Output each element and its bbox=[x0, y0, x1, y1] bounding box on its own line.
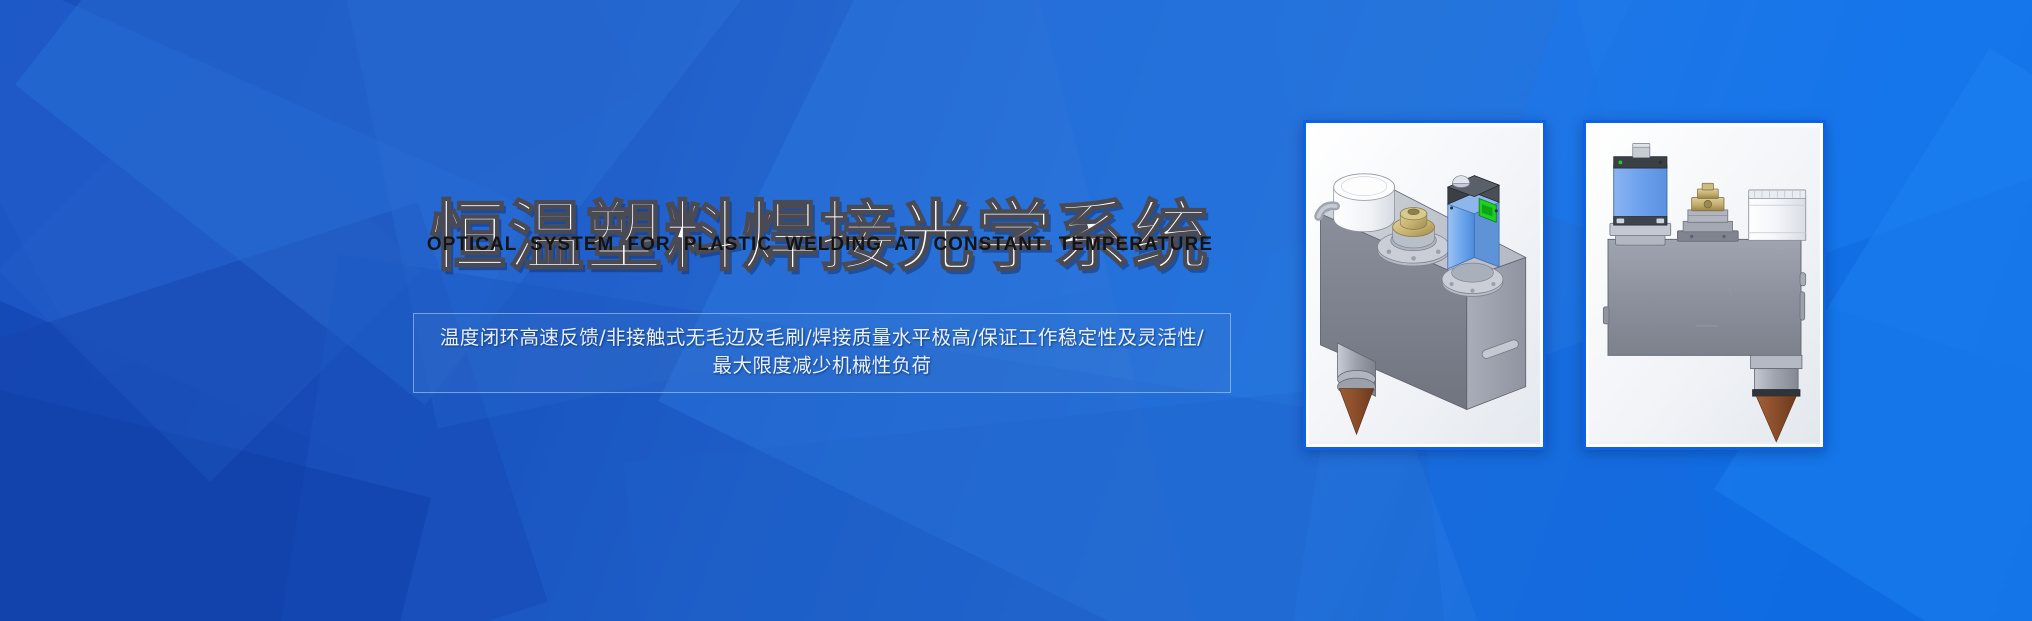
background-facet bbox=[0, 372, 431, 621]
cad-render-isometric bbox=[1309, 126, 1540, 444]
subtitle-line-1: 温度闭环高速反馈/非接触式无毛边及毛刷/焊接质量水平极高/保证工作稳定性及灵活性… bbox=[440, 326, 1204, 349]
product-image-card-front[interactable] bbox=[1583, 120, 1826, 450]
cad-render-front bbox=[1589, 126, 1820, 444]
subtitle-line-2: 最大限度减少机械性负荷 bbox=[428, 352, 1216, 380]
subtitle-box: 温度闭环高速反馈/非接触式无毛边及毛刷/焊接质量水平极高/保证工作稳定性及灵活性… bbox=[413, 313, 1231, 393]
card-inner bbox=[1309, 126, 1540, 444]
background-facet bbox=[273, 254, 1326, 621]
title-stack: 恒温塑料焊接光学系统 OPTICAL SYSTEM FOR PLASTIC WE… bbox=[400, 195, 1240, 285]
background-facet bbox=[0, 58, 422, 482]
page-title-english: OPTICAL SYSTEM FOR PLASTIC WELDING AT CO… bbox=[413, 231, 1228, 257]
headline-block: 恒温塑料焊接光学系统 OPTICAL SYSTEM FOR PLASTIC WE… bbox=[400, 195, 1240, 285]
product-banner: 恒温塑料焊接光学系统 OPTICAL SYSTEM FOR PLASTIC WE… bbox=[0, 0, 2032, 621]
card-inner bbox=[1589, 126, 1820, 444]
product-image-card-isometric[interactable] bbox=[1303, 120, 1546, 450]
